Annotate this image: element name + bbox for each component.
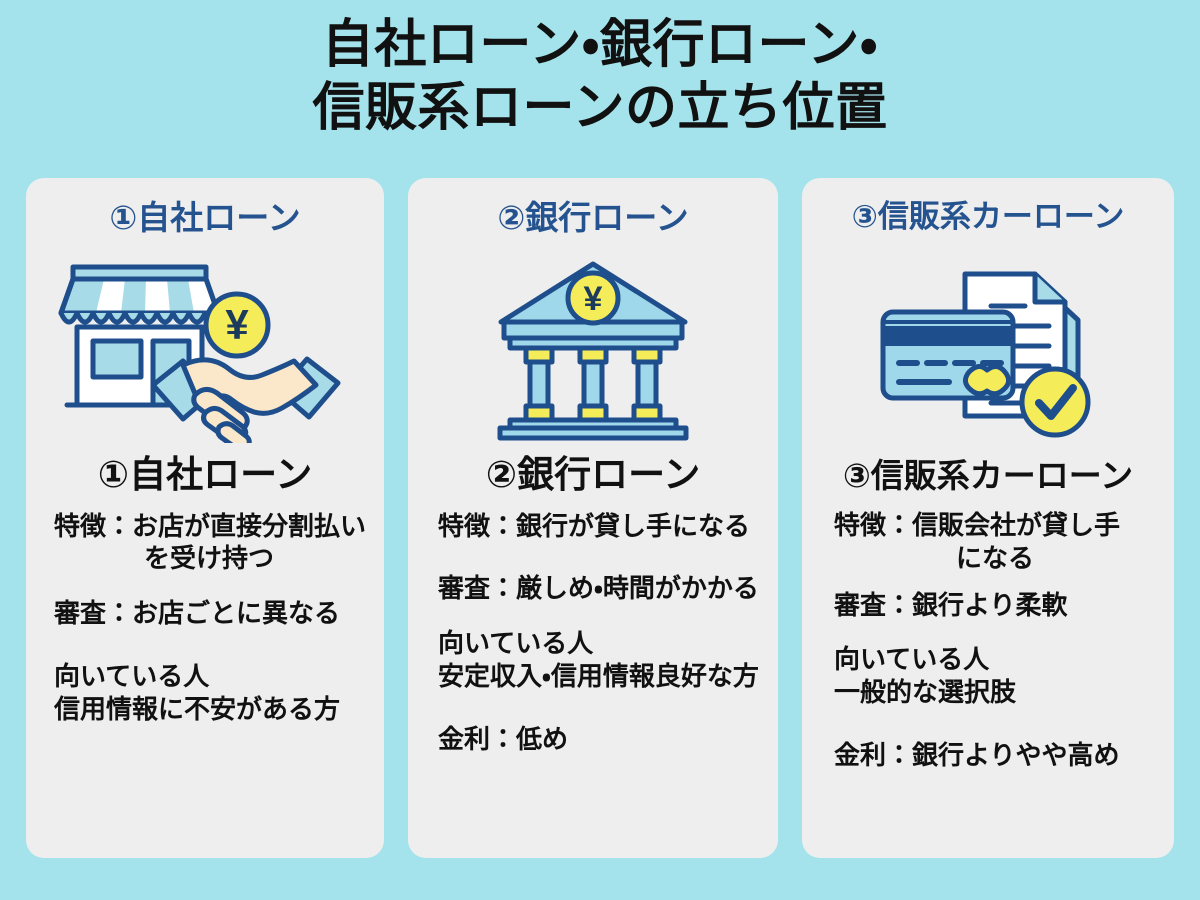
card-line: 審査：厳しめ・時間がかかる [438,572,760,605]
svg-text:¥: ¥ [584,280,603,318]
card-line: 金利：銀行よりやや高め [834,739,1156,772]
card-line: 向いている人 [438,627,760,660]
card-ginko-loan: ②銀行ローン [408,178,778,858]
card-top-title-jisha: ①自社ローン [109,200,300,236]
bank-building-yen-icon: ¥ [422,248,764,448]
card-line: になる [834,542,1156,575]
card-line: 特徴：銀行が貸し手になる [438,510,760,543]
page-title-line-2: 信販系ローンの立ち位置 [0,77,1200,140]
storefront-handshake-yen-icon: ¥ [40,248,370,448]
spacer [834,621,1156,643]
card-line: を受け持つ [54,542,364,575]
card-line: 特徴：お店が直接分割払い [54,510,364,543]
card-body-ginko: 特徴：銀行が貸し手になる 審査：厳しめ・時間がかかる 向いている人 安定収入・信… [422,510,764,756]
card-top-title-ginko: ②銀行ローン [497,200,688,236]
card-body-shinpan: 特徴：信販会社が貸し手 になる 審査：銀行より柔軟 向いている人 一般的な選択肢… [816,509,1160,772]
spacer [438,542,760,572]
spacer [438,693,760,723]
svg-text:¥: ¥ [225,301,249,348]
card-line: 金利：低め [438,723,760,756]
card-top-title-shinpan: ③信販系カーローン [852,200,1125,234]
page-title-line-1: 自社ローン・銀行ローン・ [0,14,1200,77]
loan-type-cards: ①自社ローン [26,178,1174,858]
card-line: 向いている人 [54,660,364,693]
card-line: 信用情報に不安がある方 [54,693,364,726]
card-line: 特徴：信販会社が貸し手 [834,509,1156,542]
card-main-title-shinpan: ③信販系カーローン [843,458,1133,495]
card-jisha-loan: ①自社ローン [26,178,384,858]
card-line: 審査：銀行より柔軟 [834,589,1156,622]
infographic-page: 自社ローン・銀行ローン・ 信販系ローンの立ち位置 ①自社ローン [0,0,1200,900]
credit-card-documents-check-icon [816,252,1160,452]
card-line: 向いている人 [834,643,1156,676]
card-shinpan-car-loan: ③信販系カーローン [802,178,1174,858]
spacer [54,630,364,660]
card-body-jisha: 特徴：お店が直接分割払い を受け持つ 審査：お店ごとに異なる 向いている人 信用… [40,510,370,726]
spacer [54,575,364,597]
spacer [834,575,1156,589]
spacer [834,709,1156,739]
page-title: 自社ローン・銀行ローン・ 信販系ローンの立ち位置 [0,14,1200,141]
card-main-title-ginko: ②銀行ローン [486,454,700,495]
card-line: 一般的な選択肢 [834,676,1156,709]
spacer [438,605,760,627]
card-main-title-jisha: ①自社ローン [98,454,312,495]
card-line: 安定収入・信用情報良好な方 [438,660,760,693]
card-line: 審査：お店ごとに異なる [54,597,364,630]
